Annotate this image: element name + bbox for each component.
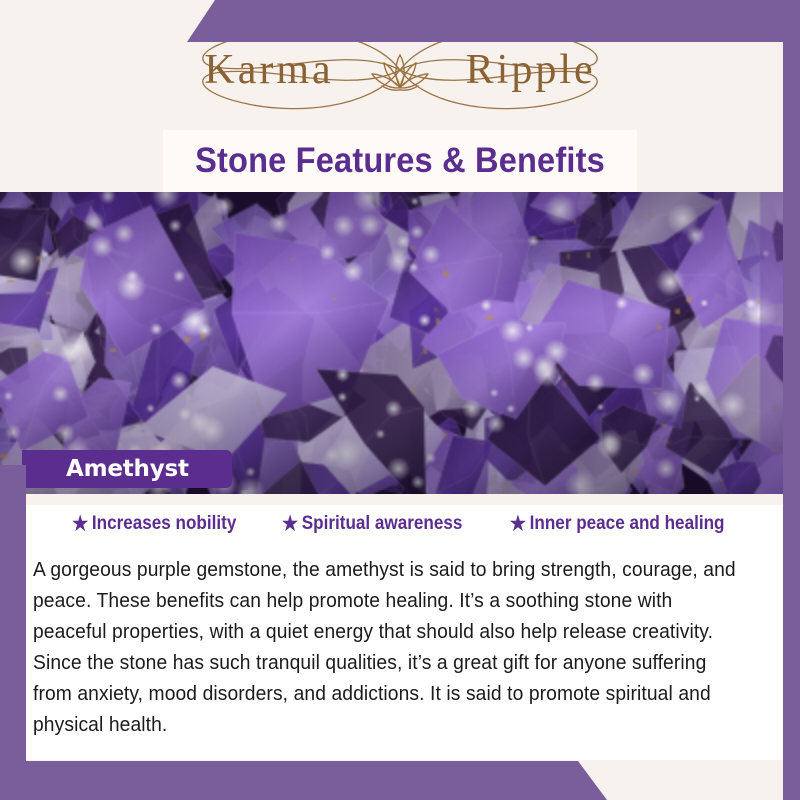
headline-band: Stone Features & Benefits — [0, 130, 800, 192]
frame-left-bar — [0, 465, 26, 800]
benefits-row: ★ Increases nobility ★ Spiritual awarene… — [0, 513, 800, 535]
amethyst-photo-canvas — [0, 192, 800, 494]
stone-name-label: Amethyst — [22, 456, 189, 482]
content-top-strip — [0, 494, 800, 505]
content-panel: ★ Increases nobility ★ Spiritual awarene… — [0, 494, 800, 760]
benefit-label-1: Increases nobility — [92, 513, 236, 535]
star-icon: ★ — [72, 514, 88, 534]
product-infographic-poster: Karma Ripple Stone Features & B — [0, 0, 800, 800]
page-title: Stone Features & Benefits — [28, 130, 772, 192]
stone-description: A gorgeous purple gemstone, the amethyst… — [33, 554, 736, 740]
benefit-label-3: Inner peace and healing — [530, 513, 725, 535]
benefit-item-1: ★ Increases nobility — [72, 513, 236, 535]
frame-right-bar — [783, 0, 800, 800]
benefit-item-2: ★ Spiritual awareness — [282, 513, 462, 535]
benefit-label-2: Spiritual awareness — [302, 513, 463, 535]
star-icon: ★ — [282, 514, 298, 534]
star-icon: ★ — [510, 514, 526, 534]
benefit-item-3: ★ Inner peace and healing — [510, 513, 725, 535]
lotus-icon — [366, 49, 434, 95]
hero-image — [0, 192, 800, 494]
stone-name-banner: Amethyst — [22, 450, 232, 488]
